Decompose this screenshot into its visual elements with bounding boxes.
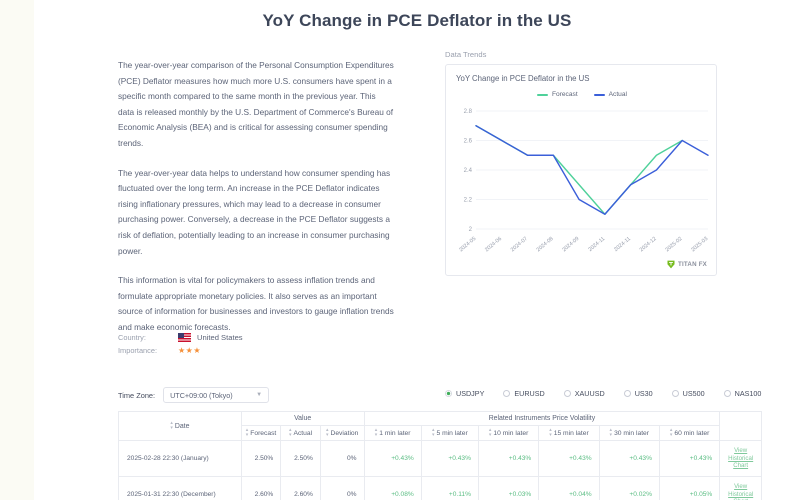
header-label: Deviation [330, 430, 358, 437]
table-row[interactable]: 2025-01-31 22:30 (December)2.60%2.60%0%+… [119, 477, 762, 500]
x-axis-tick-label: 2024-12 [639, 236, 658, 253]
article-paragraph-2: The year-over-year data helps to underst… [118, 166, 394, 260]
sort-icon: ▴▾ [289, 428, 292, 438]
header-10-min-later[interactable]: ▴▾10 min later [478, 426, 538, 441]
content-sheet: YoY Change in PCE Deflator in the US The… [34, 0, 800, 500]
sort-icon: ▴▾ [170, 421, 173, 431]
cell-historical-chart-link[interactable]: ViewHistoricalChart [720, 441, 762, 477]
symbol-radio-label: XAUUSD [575, 389, 605, 398]
cell-volatility-5-min-later: +0.11% [421, 477, 478, 500]
article-body: The year-over-year comparison of the Per… [118, 58, 394, 350]
link-line: View [734, 447, 747, 454]
country-name: United States [197, 333, 243, 342]
cell-historical-chart-link[interactable]: ViewHistoricalChart [720, 477, 762, 500]
cell-volatility-60-min-later: +0.05% [659, 477, 719, 500]
cell-volatility-1-min-later: +0.08% [364, 477, 421, 500]
header-date-label: Date [175, 423, 190, 430]
legend-item-forecast[interactable]: Forecast [537, 91, 578, 98]
symbol-radio-nas100[interactable]: NAS100 [724, 389, 762, 398]
symbol-radio-xauusd[interactable]: XAUUSD [564, 389, 605, 398]
header-60-min-later[interactable]: ▴▾60 min later [659, 426, 719, 441]
cell-actual: 2.60% [281, 477, 321, 500]
meta-row-country: Country: United States [118, 331, 398, 344]
radio-dot-icon [445, 390, 452, 397]
chevron-down-icon: ▼ [256, 392, 262, 398]
x-axis-tick-label: 2024-08 [536, 236, 555, 253]
symbol-radio-eurusd[interactable]: EURUSD [503, 389, 544, 398]
titanfx-logo-icon [667, 260, 675, 269]
y-axis-tick-label: 2.8 [464, 109, 473, 115]
economic-data-table: ▴▾Date Value Related Instruments Price V… [118, 411, 762, 500]
header-label: 30 min later [614, 430, 649, 437]
cell-forecast: 2.60% [241, 477, 281, 500]
symbol-radio-label: EURUSD [514, 389, 544, 398]
cell-volatility-30-min-later: +0.43% [599, 441, 659, 477]
header-label: 10 min later [493, 430, 528, 437]
header-actual[interactable]: ▴▾Actual [281, 426, 321, 441]
view-historical-chart-link[interactable]: ViewHistoricalChart [728, 483, 753, 500]
header-15-min-later[interactable]: ▴▾15 min later [539, 426, 599, 441]
symbol-radio-us500[interactable]: US500 [672, 389, 705, 398]
x-axis-tick-label: 2024-07 [510, 236, 529, 253]
data-trends-label: Data Trends [445, 50, 486, 59]
radio-dot-icon [624, 390, 631, 397]
y-axis-tick-label: 2.6 [464, 139, 473, 145]
link-line: Historical [728, 491, 753, 498]
x-axis-tick-label: 2025-03 [690, 236, 709, 253]
chart-title: YoY Change in PCE Deflator in the US [456, 74, 590, 83]
meta-row-importance: Importance: ★★★ [118, 344, 398, 357]
header-label: 60 min later [674, 430, 709, 437]
radio-dot-icon [564, 390, 571, 397]
y-axis-tick-label: 2.2 [464, 198, 473, 204]
link-line: Historical [728, 455, 753, 462]
x-axis-tick-label: 2024-09 [561, 236, 580, 253]
importance-value-wrap: ★★★ [178, 346, 201, 355]
cell-date: 2025-01-31 22:30 (December) [119, 477, 242, 500]
header-30-min-later[interactable]: ▴▾30 min later [599, 426, 659, 441]
symbol-radio-label: NAS100 [735, 389, 762, 398]
cell-volatility-60-min-later: +0.43% [659, 441, 719, 477]
cell-volatility-1-min-later: +0.43% [364, 441, 421, 477]
header-label: 1 min later [379, 430, 410, 437]
symbol-radio-group[interactable]: USDJPYEURUSDXAUUSDUS30US500NAS100 [445, 389, 761, 398]
legend-swatch-forecast [537, 94, 548, 96]
radio-dot-icon [503, 390, 510, 397]
symbol-radio-us30[interactable]: US30 [624, 389, 653, 398]
watermark-text: TITAN FX [678, 261, 707, 268]
cell-volatility-10-min-later: +0.03% [478, 477, 538, 500]
table-header-group-row: ▴▾Date Value Related Instruments Price V… [119, 412, 762, 426]
x-axis-tick-label: 2024-11 [587, 236, 606, 253]
link-line: View [734, 483, 747, 490]
legend-swatch-actual [594, 94, 605, 96]
us-flag-icon [178, 333, 191, 342]
chart-legend: Forecast Actual [446, 91, 718, 98]
titanfx-watermark: TITAN FX [667, 260, 707, 269]
cell-actual: 2.50% [281, 441, 321, 477]
cell-volatility-15-min-later: +0.04% [539, 477, 599, 500]
header-label: 5 min later [437, 430, 468, 437]
line-chart-plot[interactable]: 22.22.42.62.82024-052024-062024-072024-0… [446, 103, 718, 277]
cell-deviation: 0% [320, 441, 364, 477]
legend-item-actual[interactable]: Actual [594, 91, 627, 98]
cell-forecast: 2.50% [241, 441, 281, 477]
symbol-radio-label: US500 [683, 389, 705, 398]
header-1-min-later[interactable]: ▴▾1 min later [364, 426, 421, 441]
table-body: 2025-02-28 22:30 (January)2.50%2.50%0%+0… [119, 441, 762, 500]
legend-label-forecast: Forecast [552, 91, 578, 98]
y-axis-tick-label: 2 [469, 227, 473, 233]
cell-date: 2025-02-28 22:30 (January) [119, 441, 242, 477]
page-root: YoY Change in PCE Deflator in the US The… [0, 0, 800, 500]
importance-label: Importance: [118, 346, 178, 355]
header-label: 15 min later [554, 430, 589, 437]
link-line: Chart [733, 462, 748, 469]
sort-icon: ▴▾ [489, 428, 492, 438]
header-date[interactable]: ▴▾Date [119, 412, 242, 441]
symbol-radio-usdjpy[interactable]: USDJPY [445, 389, 484, 398]
page-title: YoY Change in PCE Deflator in the US [34, 11, 800, 31]
country-value-wrap: United States [178, 333, 243, 342]
article-paragraph-1: The year-over-year comparison of the Per… [118, 58, 394, 152]
x-axis-tick-label: 2024-05 [458, 236, 477, 253]
sort-icon: ▴▾ [432, 428, 435, 438]
header-deviation[interactable]: ▴▾Deviation [320, 426, 364, 441]
cell-deviation: 0% [320, 477, 364, 500]
timezone-label: Time Zone: [118, 391, 155, 400]
sort-icon: ▴▾ [326, 428, 329, 438]
country-label: Country: [118, 333, 178, 342]
header-label: Actual [294, 430, 313, 437]
sort-icon: ▴▾ [549, 428, 552, 438]
sort-icon: ▴▾ [375, 428, 378, 438]
table-head: ▴▾Date Value Related Instruments Price V… [119, 412, 762, 441]
symbol-radio-label: US30 [635, 389, 653, 398]
header-forecast[interactable]: ▴▾Forecast [241, 426, 281, 441]
header-5-min-later[interactable]: ▴▾5 min later [421, 426, 478, 441]
header-group-volatility: Related Instruments Price Volatility [364, 412, 720, 426]
cell-volatility-30-min-later: +0.02% [599, 477, 659, 500]
cell-volatility-5-min-later: +0.43% [421, 441, 478, 477]
sort-icon: ▴▾ [610, 428, 613, 438]
legend-label-actual: Actual [609, 91, 627, 98]
x-axis-tick-label: 2024-11 [613, 236, 632, 253]
symbol-radio-label: USDJPY [456, 389, 484, 398]
view-historical-chart-link[interactable]: ViewHistoricalChart [728, 447, 753, 470]
y-axis-tick-label: 2.4 [464, 168, 473, 174]
timezone-select[interactable]: UTC+09:00 (Tokyo) ▼ [163, 387, 269, 403]
table-row[interactable]: 2025-02-28 22:30 (January)2.50%2.50%0%+0… [119, 441, 762, 477]
header-label: Forecast [250, 430, 276, 437]
timezone-bar: Time Zone: UTC+09:00 (Tokyo) ▼ [118, 387, 269, 403]
timezone-selected-value: UTC+09:00 (Tokyo) [170, 391, 233, 400]
event-meta: Country: United States Importance: ★★★ [118, 331, 398, 357]
cell-volatility-15-min-later: +0.43% [539, 441, 599, 477]
sort-icon: ▴▾ [670, 428, 673, 438]
x-axis-tick-label: 2025-02 [664, 236, 683, 253]
header-group-value: Value [241, 412, 364, 426]
x-axis-tick-label: 2024-06 [484, 236, 503, 253]
importance-stars: ★★★ [178, 346, 201, 355]
radio-dot-icon [724, 390, 731, 397]
radio-dot-icon [672, 390, 679, 397]
sort-icon: ▴▾ [246, 428, 249, 438]
cell-volatility-10-min-later: +0.43% [478, 441, 538, 477]
header-link-column [720, 412, 762, 441]
chart-card: YoY Change in PCE Deflator in the US For… [445, 64, 717, 276]
article-paragraph-3: This information is vital for policymake… [118, 273, 394, 335]
